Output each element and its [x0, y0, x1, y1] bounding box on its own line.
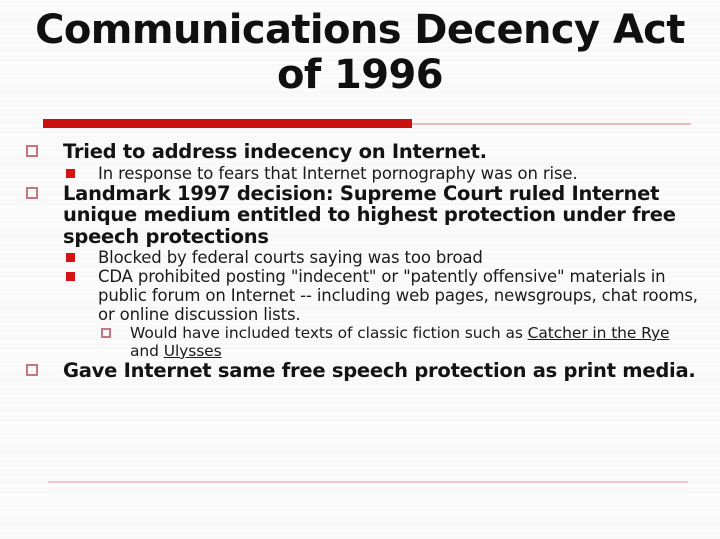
page-title-line-1: Communications Decency Act — [20, 8, 700, 53]
list-item: Gave Internet same free speech protectio… — [0, 360, 720, 382]
list-item: In response to fears that Internet porno… — [0, 164, 720, 183]
filled-square-bullet-icon — [66, 169, 75, 178]
book-title-ulysses: Ulysses — [164, 342, 222, 360]
list-item: Landmark 1997 decision: Supreme Court ru… — [0, 183, 720, 248]
bullet-list: Tried to address indecency on Internet. … — [0, 141, 720, 383]
list-item-text: Blocked by federal courts saying was too… — [98, 248, 483, 267]
slide-canvas: Communications Decency Act of 1996 Tried… — [0, 0, 720, 539]
list-item: CDA prohibited posting "indecent" or "pa… — [0, 267, 720, 324]
list-item-text: Tried to address indecency on Internet. — [63, 140, 487, 163]
list-item-text-middle: and — [130, 342, 164, 360]
list-item-text-prefix: Would have included texts of classic fic… — [130, 324, 528, 342]
hollow-square-bullet-icon — [26, 187, 38, 199]
list-item: Tried to address indecency on Internet. — [0, 141, 720, 163]
hollow-square-bullet-icon — [26, 145, 38, 157]
hollow-square-bullet-icon — [26, 364, 38, 376]
bottom-divider — [48, 481, 688, 483]
list-item-text: CDA prohibited posting "indecent" or "pa… — [98, 267, 698, 324]
page-title-line-2: of 1996 — [20, 53, 700, 98]
filled-square-bullet-icon — [66, 253, 75, 262]
title-divider — [43, 119, 691, 129]
list-item-text: In response to fears that Internet porno… — [98, 164, 577, 183]
list-item: Blocked by federal courts saying was too… — [0, 248, 720, 267]
book-title-catcher-in-the-rye: Catcher in the Rye — [528, 324, 670, 342]
list-item-text: Landmark 1997 decision: Supreme Court ru… — [63, 182, 676, 248]
list-item-text: Gave Internet same free speech protectio… — [63, 359, 696, 382]
page-title: Communications Decency Act of 1996 — [20, 8, 700, 98]
filled-square-bullet-icon — [66, 272, 75, 281]
title-divider-accent-bar — [43, 119, 412, 128]
hollow-square-bullet-icon — [101, 328, 111, 338]
list-item: Would have included texts of classic fic… — [0, 324, 720, 360]
